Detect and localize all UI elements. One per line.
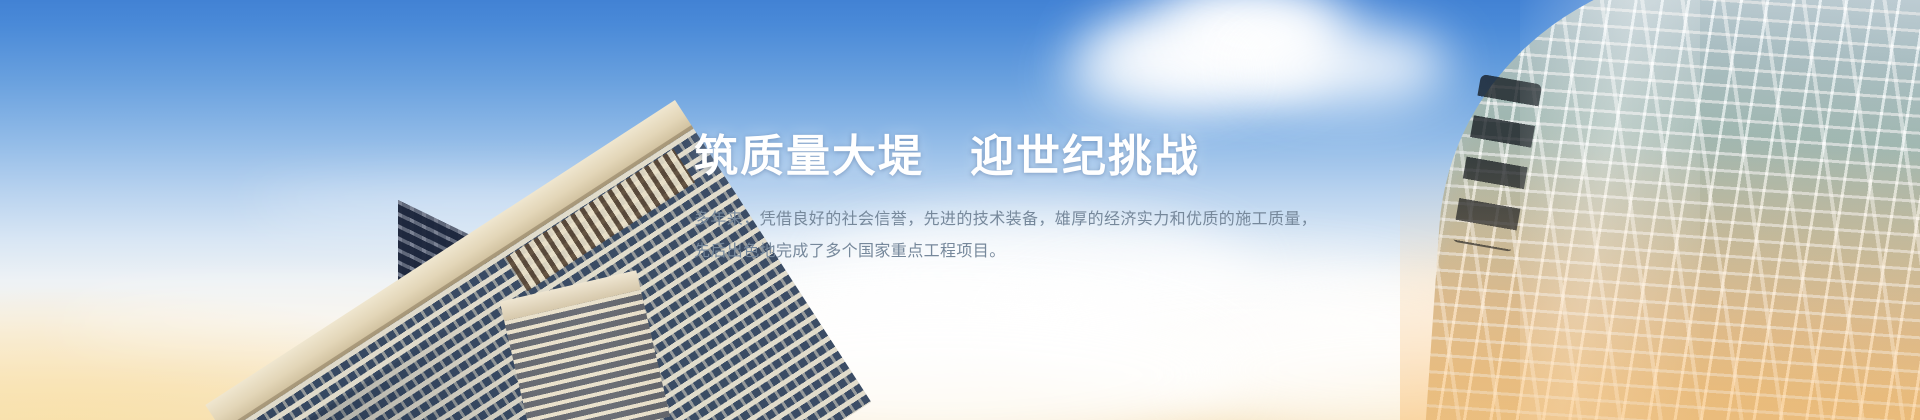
banner-subtitle: 多年来，凭借良好的社会信誉，先进的技术装备，雄厚的经济实力和优质的施工质量， 先… — [694, 203, 1394, 267]
banner-copy: 筑质量大堤 迎世纪挑战 多年来，凭借良好的社会信誉，先进的技术装备，雄厚的经济实… — [694, 132, 1394, 267]
right-building — [1400, 0, 1920, 420]
banner-subtitle-line-2: 先后出色地完成了多个国家重点工程项目。 — [694, 235, 1394, 267]
hero-banner: 筑质量大堤 迎世纪挑战 多年来，凭借良好的社会信誉，先进的技术装备，雄厚的经济实… — [0, 0, 1920, 420]
banner-subtitle-line-1: 多年来，凭借良好的社会信誉，先进的技术装备，雄厚的经济实力和优质的施工质量， — [694, 203, 1394, 235]
banner-headline: 筑质量大堤 迎世纪挑战 — [694, 132, 1394, 181]
cloud-upper-right-d — [1060, 46, 1240, 104]
